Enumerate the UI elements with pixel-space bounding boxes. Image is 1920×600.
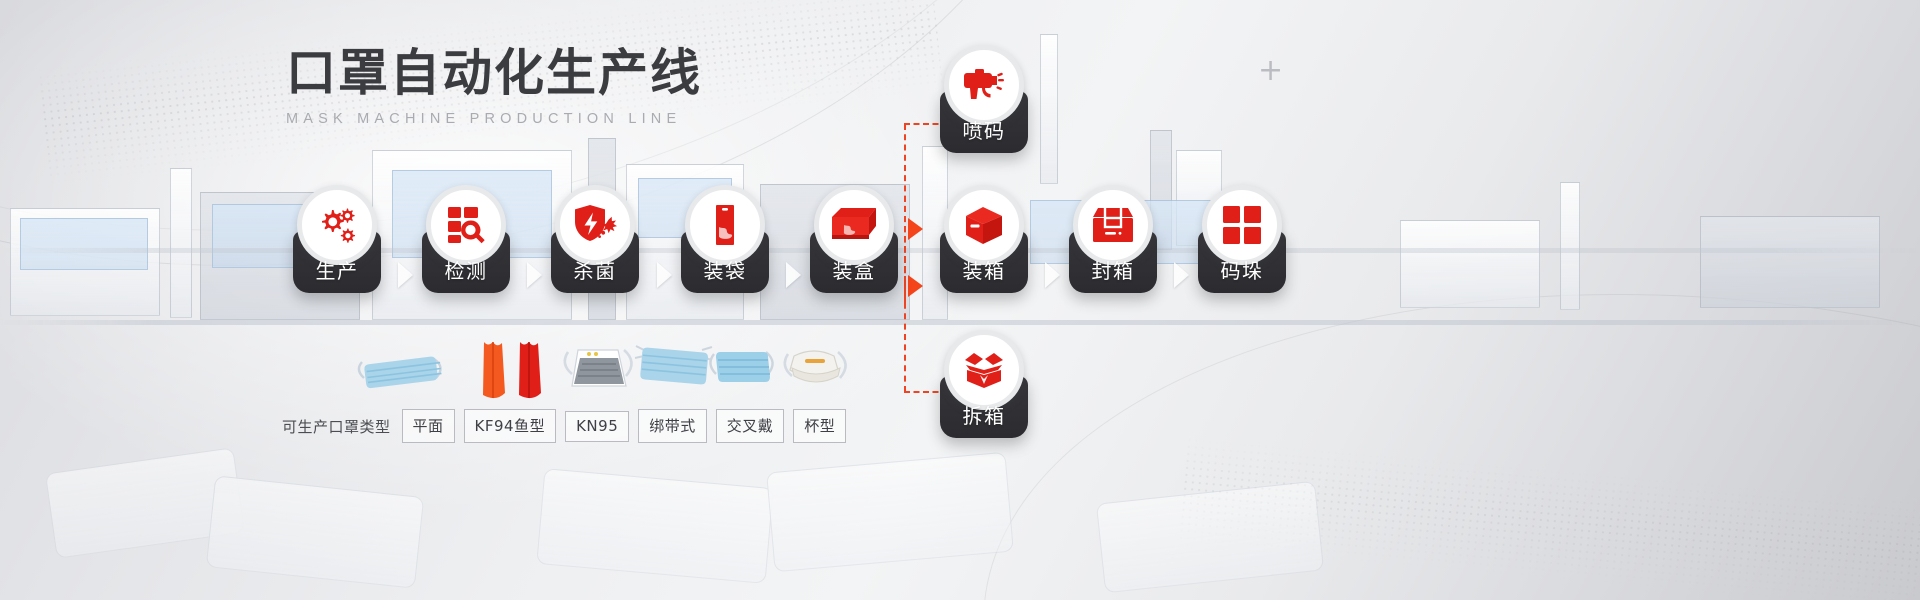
mask-sample-kf94-orange bbox=[478, 338, 510, 408]
node-label: 检测 bbox=[422, 255, 510, 284]
headline-block: 口罩自动化生产线 MASK MACHINE PRODUCTION LINE bbox=[286, 46, 702, 127]
carton-tray-icon bbox=[814, 185, 894, 265]
mask-type-tag-flat[interactable]: 平面 bbox=[402, 409, 455, 443]
node-label: 生产 bbox=[293, 255, 381, 284]
open-box-icon bbox=[944, 330, 1024, 410]
mask-sample-cup-shape bbox=[778, 342, 854, 404]
magnifier-blocks-icon bbox=[426, 185, 506, 265]
node-label: 杀菌 bbox=[551, 255, 639, 284]
chevron-right-icon bbox=[786, 262, 801, 288]
mask-sample-gallery bbox=[350, 338, 870, 410]
background-mask-photo bbox=[40, 440, 460, 600]
arrow-right-icon bbox=[908, 218, 923, 240]
four-squares-stack-icon bbox=[1202, 185, 1282, 265]
node-label: 码垛 bbox=[1198, 255, 1286, 284]
mask-type-row-label: 可生产口罩类型 bbox=[282, 416, 391, 437]
chevron-right-icon bbox=[657, 262, 672, 288]
gears-icon bbox=[297, 185, 377, 265]
node-label: 拆箱 bbox=[940, 400, 1028, 429]
mask-type-tag-tie-on[interactable]: 绑带式 bbox=[638, 409, 707, 443]
node-label: 装袋 bbox=[681, 255, 769, 284]
background-mask-photo bbox=[520, 452, 1040, 600]
arrow-right-icon bbox=[908, 275, 923, 297]
sealed-box-icon bbox=[1073, 185, 1153, 265]
mask-type-tag-row: 可生产口罩类型 平面 KF94鱼型 KN95 绑带式 交叉戴 杯型 bbox=[282, 409, 846, 443]
shield-lightning-icon bbox=[555, 185, 635, 265]
dashed-branch-spine bbox=[904, 196, 906, 292]
mask-sample-kf94-red bbox=[514, 338, 546, 408]
page-subtitle: MASK MACHINE PRODUCTION LINE bbox=[286, 111, 702, 127]
mask-pouch-icon bbox=[685, 185, 765, 265]
node-label: 喷码 bbox=[940, 115, 1028, 144]
plus-icon: + bbox=[1258, 56, 1283, 86]
infographic-banner: + 口罩自动化生产线 MASK MACHINE bbox=[0, 0, 1920, 600]
mask-sample-flat-pleated bbox=[356, 346, 452, 406]
chevron-right-icon bbox=[527, 262, 542, 288]
background-mask-photo bbox=[1080, 470, 1500, 600]
chevron-right-icon bbox=[1045, 262, 1060, 288]
mask-type-tag-cup[interactable]: 杯型 bbox=[793, 409, 846, 443]
dashed-branch-line-down bbox=[904, 282, 906, 392]
spray-coding-gun-icon bbox=[944, 45, 1024, 125]
chevron-right-icon bbox=[398, 262, 413, 288]
mask-type-tag-cross-wear[interactable]: 交叉戴 bbox=[716, 409, 785, 443]
background-dot-band bbox=[1177, 436, 1920, 600]
page-title: 口罩自动化生产线 bbox=[286, 46, 702, 100]
mask-type-tag-kn95[interactable]: KN95 bbox=[565, 411, 629, 442]
closed-cube-box-icon bbox=[944, 185, 1024, 265]
mask-sample-cross-wear bbox=[704, 344, 782, 404]
node-label: 装盒 bbox=[810, 255, 898, 284]
node-label: 封箱 bbox=[1069, 255, 1157, 284]
mask-type-tag-kf94[interactable]: KF94鱼型 bbox=[464, 409, 557, 443]
node-label: 装箱 bbox=[940, 255, 1028, 284]
chevron-right-icon bbox=[1174, 262, 1189, 288]
mask-sample-kn95-grey bbox=[558, 342, 642, 404]
